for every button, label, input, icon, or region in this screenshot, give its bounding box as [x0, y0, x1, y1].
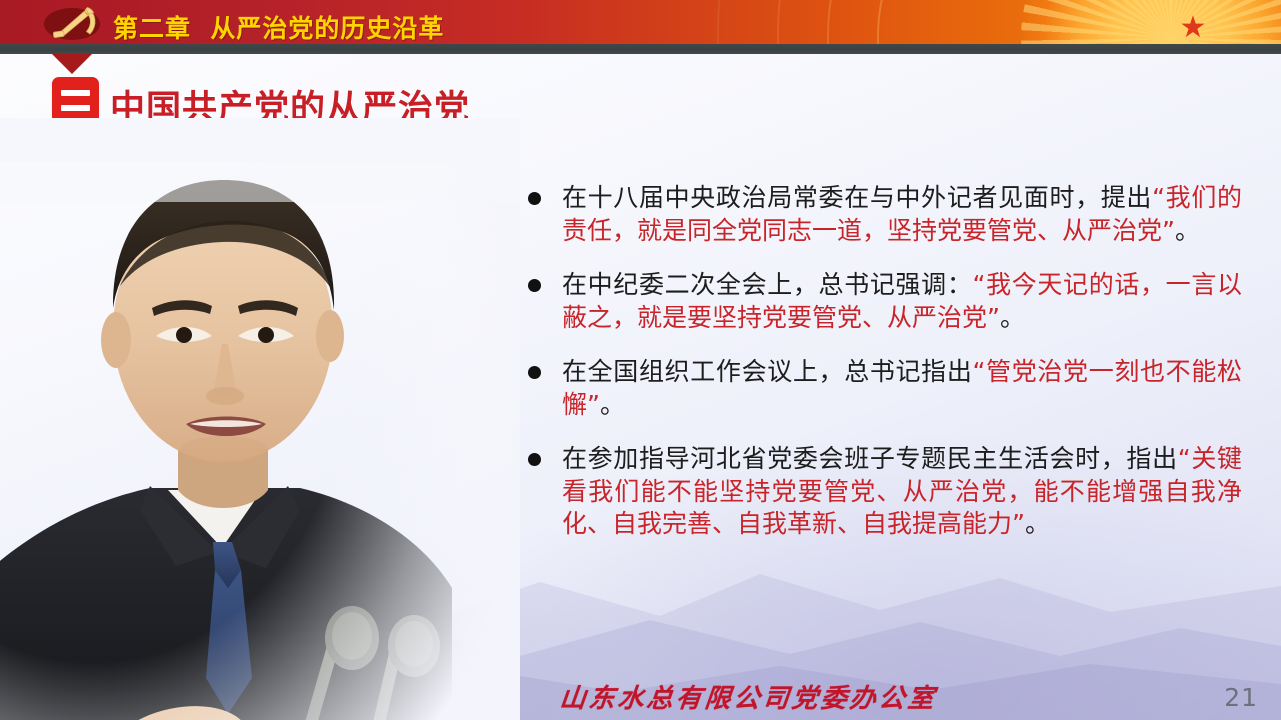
bullet-dot-icon [528, 192, 541, 205]
caret-down-icon [52, 54, 92, 74]
banner-sunburst [1021, 0, 1281, 44]
bullet-tail: 。 [1025, 509, 1050, 538]
bullet-lead: 在全国组织工作会议上，总书记指出 [562, 357, 972, 386]
list-item: 在全国组织工作会议上，总书记指出“管党治党一刻也不能松懈”。 [522, 356, 1242, 421]
footer-organization-seal: 山东水总有限公司党委办公室 [558, 678, 939, 715]
bullet-lead: 在参加指导河北省党委会班子专题民主生活会时，指出 [562, 444, 1178, 473]
bullet-dot-icon [528, 453, 541, 466]
top-banner: ★ 第二章 从严治党的历史沿革 [0, 0, 1281, 44]
bullet-lead: 在十八届中央政治局常委在与中外记者见面时，提出 [562, 183, 1152, 212]
portrait-photo [0, 118, 520, 720]
badge-stroke-bottom [61, 105, 90, 111]
section-number-badge: 二 [52, 77, 99, 124]
list-item: 在中纪委二次全会上，总书记强调：“我今天记的话，一言以蔽之，就是要坚持党要管党、… [522, 269, 1242, 334]
bullet-dot-icon [528, 366, 541, 379]
chapter-title: 第二章 从严治党的历史沿革 [113, 9, 444, 44]
badge-stroke-top [61, 90, 90, 96]
bullet-tail: 。 [1175, 216, 1200, 245]
bullet-lead: 在中纪委二次全会上，总书记强调： [562, 270, 972, 299]
hammer-and-sickle-icon [32, 2, 112, 42]
slide: ★ 第二章 从严治党的历史沿革 二 中国共产党的从严治党 [0, 0, 1281, 720]
bullet-tail: 。 [1000, 303, 1025, 332]
banner-divider [0, 44, 1281, 54]
bullet-list: 在十八届中央政治局常委在与中外记者见面时，提出“我们的责任，就是同全党同志一道，… [522, 182, 1242, 541]
list-item: 在十八届中央政治局常委在与中外记者见面时，提出“我们的责任，就是同全党同志一道，… [522, 182, 1242, 247]
bullet-tail: 。 [600, 390, 625, 419]
red-star-icon: ★ [1178, 13, 1208, 43]
bullet-dot-icon [528, 279, 541, 292]
page-number: 21 [1224, 683, 1258, 712]
list-item: 在参加指导河北省党委会班子专题民主生活会时，指出“关键看我们能不能坚持党要管党、… [522, 443, 1242, 541]
